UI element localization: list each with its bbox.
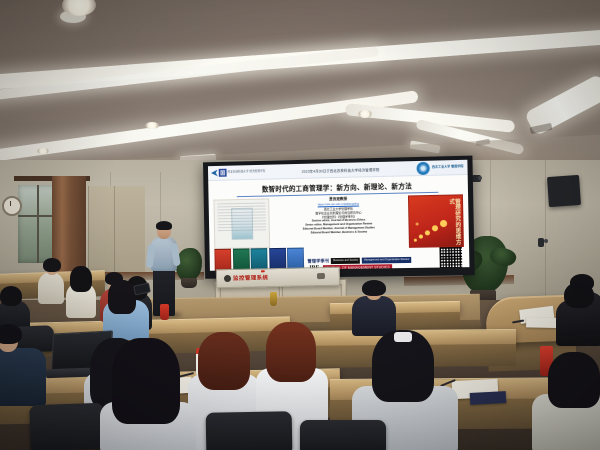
person-mid-1-hair: [0, 324, 22, 344]
person-back-1-hair: [43, 258, 61, 272]
footer-cover-1: [214, 249, 231, 271]
downlight-2: [145, 122, 159, 129]
chair-front-2: [206, 411, 293, 450]
book-cover-left: [213, 198, 270, 249]
slide-body: 贾良定教授 https://nbs.nju.edu.cn/jialiangdin…: [209, 192, 469, 249]
notebook-right-2[interactable]: [470, 391, 507, 405]
bos-logo: Business and Society: [331, 258, 360, 264]
lectern-paper-2: [526, 317, 556, 328]
book-texture: [217, 202, 266, 244]
book-right-dots: [413, 214, 454, 243]
person-back-5-hair: [362, 280, 386, 296]
cn-journal-label: 管理学季刊: [307, 258, 329, 264]
footer-cover-2: [232, 248, 249, 270]
presenter-bio: 贾良定教授 https://nbs.nju.edu.cn/jialiangdin…: [269, 195, 408, 236]
person-mid-1-torso: [0, 348, 46, 406]
av-emblem-icon: [224, 274, 231, 281]
presentation-slide: 囯 西北农林科技大学 经济管理学院 2023年4月30日于西北农林科技大学经济管…: [208, 160, 470, 271]
presenter-hair: [156, 221, 172, 230]
person-mid-4-hair: [266, 322, 316, 382]
wall-clock: [2, 196, 22, 216]
book-cover-right: 管理研究的思维方式: [408, 194, 464, 248]
host-logo-label: 西北农林科技大学 经济管理学院: [228, 170, 266, 174]
slide-header-line: 2023年4月30日于西北农林科技大学经济管理学院: [265, 166, 416, 175]
institute-badge-icon: 囯: [219, 169, 227, 177]
wall-wood-panel-left: [88, 186, 115, 282]
led-display-screen[interactable]: 囯 西北农林科技大学 经济管理学院 2023年4月30日于西北农林科技大学经济管…: [203, 156, 475, 279]
downlight-3: [358, 110, 372, 118]
person-photographer-hair: [108, 280, 136, 314]
person-back-7-hair: [564, 282, 594, 308]
person-back-6-hair: [0, 286, 22, 306]
wall-wood-panel-left-2: [114, 186, 145, 282]
thermos-cup-red-small[interactable]: [160, 304, 169, 320]
ceiling: [0, 0, 600, 185]
wall-seam-4: [545, 160, 546, 310]
university-logo-label: 西北工业大学 管理学院: [432, 165, 464, 169]
person-back-2-hair: [70, 266, 92, 292]
swoosh-icon: [211, 169, 218, 176]
lecture-hall-photo: 囯 西北农林科技大学 经济管理学院 2023年4月30日于西北农林科技大学经济管…: [0, 0, 600, 450]
university-logo: 西北工业大学 管理学院: [417, 160, 464, 174]
downlight-4: [37, 148, 49, 154]
university-seal-icon: [417, 161, 430, 174]
host-logo: 囯 西北农林科技大学 经济管理学院: [211, 168, 265, 177]
mor-logo: Management and Organization Review: [362, 257, 411, 263]
wall-sconce-icon: [538, 238, 544, 247]
wall-speaker: [547, 175, 581, 207]
av-power-led-icon: [261, 270, 265, 272]
person-front-2-hairclip: [394, 332, 412, 342]
person-mid-3-hair: [198, 332, 250, 390]
person-back-1-torso: [38, 272, 64, 304]
chair-front-3: [300, 420, 386, 450]
person-back-5-torso: [352, 296, 396, 336]
window-mullion-v: [37, 185, 39, 263]
plant-pot-left: [181, 278, 197, 288]
person-front-3-hair: [548, 352, 600, 408]
thermos-cup-amber[interactable]: [270, 292, 277, 306]
av-unit-label: 监控管理系统: [233, 273, 269, 282]
av-control-unit[interactable]: 监控管理系统: [216, 267, 340, 289]
security-camera-icon: [472, 175, 481, 182]
av-lens-icon: [317, 273, 325, 279]
chair-front-1: [29, 403, 105, 450]
qr-code[interactable]: [438, 245, 463, 270]
slide-header-bar: 囯 西北农林科技大学 经济管理学院 2023年4月30日于西北农林科技大学经济管…: [208, 160, 468, 181]
person-front-1-hair: [112, 338, 180, 424]
